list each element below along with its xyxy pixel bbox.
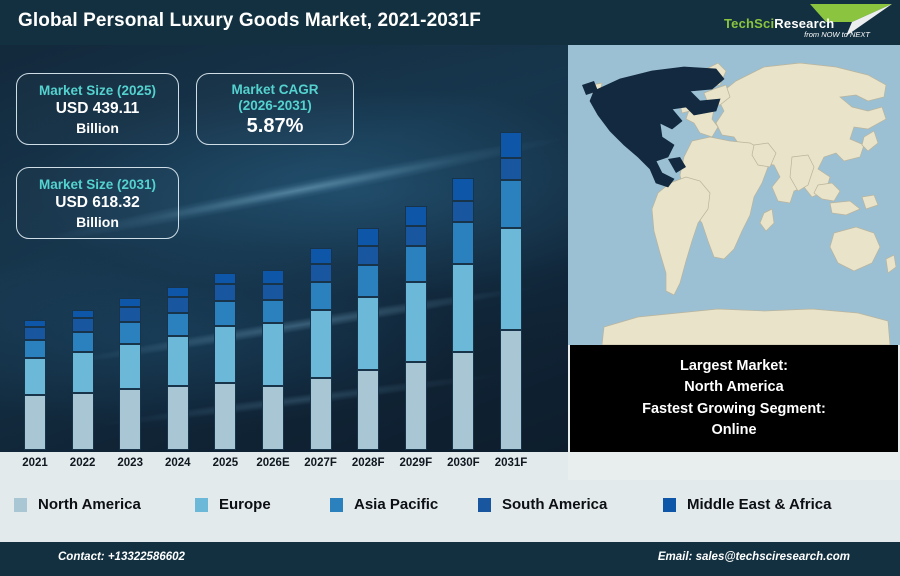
bar-segment <box>452 178 474 201</box>
largest-market-value: North America <box>684 377 783 398</box>
axis-label-2022: 2022 <box>59 457 107 469</box>
stat-box-market-cagr: Market CAGR (2026-2031) 5.87% <box>196 73 354 145</box>
axis-label-2026E: 2026E <box>249 457 297 469</box>
logo-brand-secondary: Research <box>774 16 834 31</box>
legend-label: South America <box>502 496 607 513</box>
bar-segment <box>24 320 46 327</box>
stat-label: Market CAGR <box>197 82 353 98</box>
legend-swatch <box>14 498 27 512</box>
bar-segment <box>24 327 46 340</box>
axis-label-2031F: 2031F <box>487 457 535 469</box>
bar-segment <box>310 248 332 264</box>
axis-label-2021: 2021 <box>11 457 59 469</box>
legend-label: Europe <box>219 496 271 513</box>
stat-box-market-size-2031: Market Size (2031) USD 618.32 Billion <box>16 167 179 239</box>
bar-segment <box>167 297 189 313</box>
stat-value: USD 439.11 <box>17 99 178 119</box>
legend-swatch <box>478 498 491 512</box>
bar-segment <box>310 264 332 282</box>
legend-label: Middle East & Africa <box>687 496 831 513</box>
chart-x-axis: 202120222023202420252026E2027F2028F2029F… <box>0 452 568 480</box>
bar-2026E <box>262 270 284 450</box>
bar-2027F <box>310 248 332 450</box>
legend-item-south-america: South America <box>478 496 607 513</box>
bar-segment <box>357 246 379 265</box>
bar-2031F <box>500 132 522 450</box>
axis-label-2029F: 2029F <box>392 457 440 469</box>
footer-contact: Contact: +13322586602 <box>58 551 185 563</box>
bar-segment <box>262 270 284 284</box>
bar-segment <box>262 300 284 323</box>
chart-legend: North AmericaEuropeAsia PacificSouth Ame… <box>0 480 900 542</box>
bar-segment <box>214 383 236 450</box>
bar-segment <box>24 340 46 358</box>
infographic-root: Global Personal Luxury Goods Market, 202… <box>0 0 900 576</box>
bar-2029F <box>405 206 427 450</box>
legend-swatch <box>663 498 676 512</box>
bar-2023 <box>119 298 141 450</box>
axis-label-2024: 2024 <box>154 457 202 469</box>
stat-sublabel: (2026-2031) <box>197 98 353 114</box>
bar-segment <box>119 298 141 307</box>
bar-segment <box>167 336 189 386</box>
bar-segment <box>214 326 236 383</box>
logo-tagline: from NOW to NEXT <box>804 30 870 39</box>
bar-segment <box>405 226 427 246</box>
bar-2030F <box>452 178 474 450</box>
bar-2022 <box>72 310 94 450</box>
header-bar: Global Personal Luxury Goods Market, 202… <box>0 0 900 45</box>
bar-segment <box>24 358 46 395</box>
bar-segment <box>405 362 427 450</box>
page-title: Global Personal Luxury Goods Market, 202… <box>18 10 481 32</box>
techsci-research-logo: TechSciResearch from NOW to NEXT <box>714 2 894 44</box>
bar-segment <box>72 393 94 450</box>
axis-label-2023: 2023 <box>106 457 154 469</box>
bar-segment <box>72 332 94 352</box>
axis-label-2030F: 2030F <box>439 457 487 469</box>
bar-2024 <box>167 287 189 450</box>
bar-segment <box>119 307 141 322</box>
bar-segment <box>452 264 474 352</box>
bar-segment <box>214 301 236 326</box>
bar-segment <box>500 132 522 158</box>
bar-segment <box>167 386 189 450</box>
bar-segment <box>405 282 427 362</box>
bar-segment <box>262 284 284 300</box>
bar-segment <box>310 282 332 310</box>
bar-segment <box>405 206 427 226</box>
stat-box-market-size-2025: Market Size (2025) USD 439.11 Billion <box>16 73 179 145</box>
bar-segment <box>214 284 236 301</box>
bar-segment <box>500 158 522 180</box>
world-map-svg <box>568 45 900 345</box>
stat-value: USD 618.32 <box>17 193 178 213</box>
fastest-segment-value: Online <box>711 420 756 441</box>
axis-label-2027F: 2027F <box>297 457 345 469</box>
bar-segment <box>119 344 141 389</box>
fastest-segment-label: Fastest Growing Segment: <box>642 399 826 420</box>
bar-segment <box>167 287 189 297</box>
legend-swatch <box>330 498 343 512</box>
bar-segment <box>500 330 522 450</box>
axis-label-2025: 2025 <box>201 457 249 469</box>
bar-segment <box>357 370 379 450</box>
footer-email: Email: sales@techsciresearch.com <box>658 551 850 563</box>
bar-segment <box>310 378 332 450</box>
stat-label: Market Size (2025) <box>17 83 178 99</box>
bar-2021 <box>24 320 46 450</box>
bar-segment <box>167 313 189 336</box>
bar-segment <box>24 395 46 450</box>
bar-segment <box>500 180 522 228</box>
bar-segment <box>357 228 379 246</box>
bar-segment <box>500 228 522 330</box>
stat-unit: Billion <box>17 119 178 137</box>
footer-bar: Contact: +13322586602 Email: sales@techs… <box>0 542 900 576</box>
largest-market-label: Largest Market: <box>680 356 788 377</box>
bar-segment <box>119 389 141 450</box>
bar-segment <box>72 318 94 332</box>
legend-item-middle-east-africa: Middle East & Africa <box>663 496 831 513</box>
bar-segment <box>310 310 332 378</box>
legend-item-asia-pacific: Asia Pacific <box>330 496 438 513</box>
bar-segment <box>452 201 474 222</box>
axis-label-2028F: 2028F <box>344 457 392 469</box>
logo-wordmark: TechSciResearch <box>724 16 834 31</box>
bar-segment <box>262 386 284 450</box>
legend-label: North America <box>38 496 141 513</box>
bar-segment <box>214 273 236 284</box>
bar-segment <box>357 297 379 370</box>
world-map <box>568 45 900 345</box>
stat-unit: Billion <box>17 213 178 231</box>
bar-segment <box>262 323 284 386</box>
bar-segment <box>405 246 427 282</box>
stat-value: 5.87% <box>197 113 353 139</box>
bar-segment <box>357 265 379 297</box>
legend-swatch <box>195 498 208 512</box>
bar-segment <box>452 222 474 264</box>
bar-segment <box>72 310 94 318</box>
chart-panel: Market Size (2025) USD 439.11 Billion Ma… <box>0 45 568 452</box>
bar-segment <box>119 322 141 344</box>
legend-label: Asia Pacific <box>354 496 438 513</box>
key-findings-callout: Largest Market: North America Fastest Gr… <box>570 345 898 452</box>
bar-segment <box>452 352 474 450</box>
logo-brand-primary: TechSci <box>724 16 774 31</box>
bar-segment <box>72 352 94 393</box>
legend-item-north-america: North America <box>14 496 141 513</box>
stat-label: Market Size (2031) <box>17 177 178 193</box>
legend-item-europe: Europe <box>195 496 271 513</box>
bar-2028F <box>357 228 379 450</box>
bar-2025 <box>214 273 236 450</box>
